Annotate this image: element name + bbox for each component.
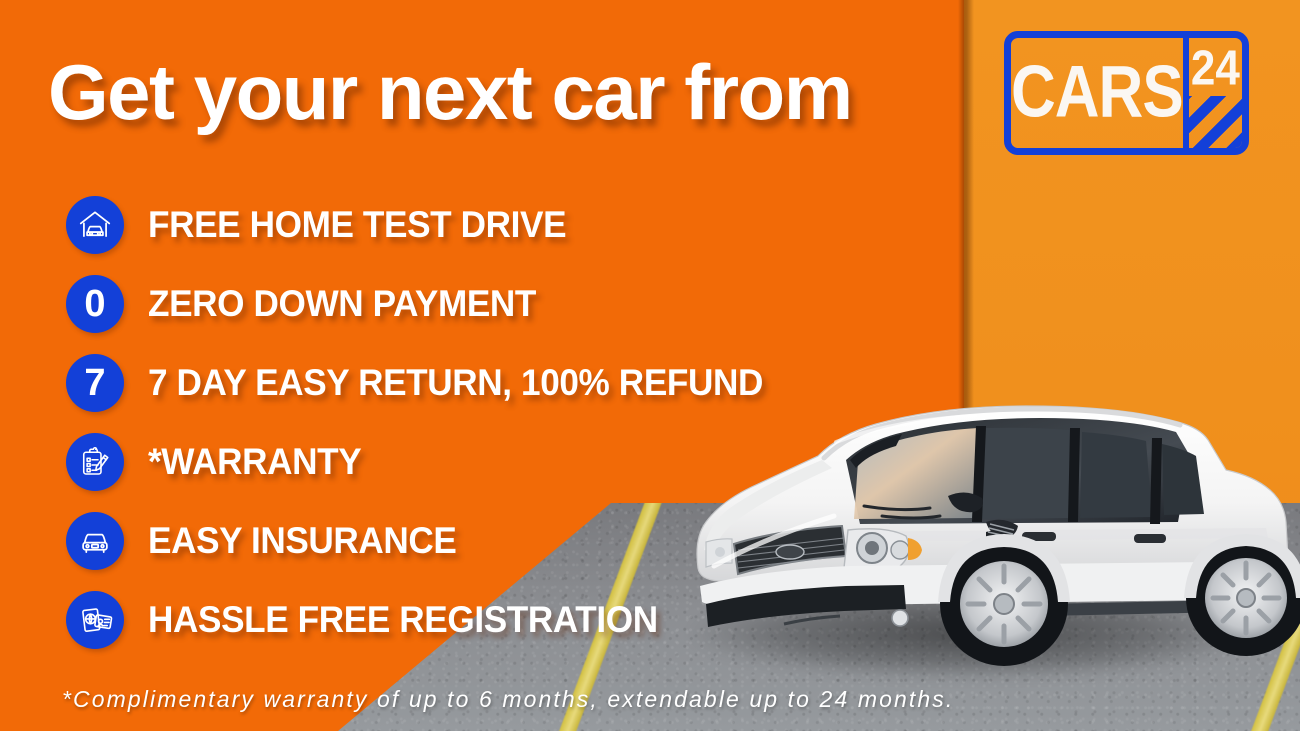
logo-stripes-icon [1189, 96, 1242, 148]
list-item-label: 7 DAY EASY RETURN, 100% REFUND [148, 362, 763, 404]
vehicle-image [686, 336, 1300, 666]
zero-icon: 0 [66, 275, 124, 333]
seven-icon: 7 [66, 354, 124, 412]
list-item: FREE HOME TEST DRIVE [66, 194, 795, 256]
page-title: Get your next car from [48, 52, 948, 134]
list-item-label: HASSLE FREE REGISTRATION [148, 599, 658, 641]
logo-number-box: 24 [1189, 38, 1242, 148]
documents-id-icon [66, 591, 124, 649]
disclaimer-text: *Complimentary warranty of up to 6 month… [62, 686, 954, 713]
cars24-logo[interactable]: CARS 24 [1004, 31, 1249, 155]
logo-wordmark-box: CARS [1011, 38, 1189, 148]
car-front-icon [66, 512, 124, 570]
list-item-label: ZERO DOWN PAYMENT [148, 283, 536, 325]
list-item: 0 ZERO DOWN PAYMENT [66, 273, 795, 335]
logo-number: 24 [1191, 44, 1240, 93]
list-item-label: FREE HOME TEST DRIVE [148, 204, 566, 246]
list-item-label: EASY INSURANCE [148, 520, 456, 562]
badge-number: 7 [84, 364, 105, 402]
list-item-label: *WARRANTY [148, 441, 361, 483]
logo-wordmark: CARS [1011, 56, 1183, 129]
cars24-promo-banner: Get your next car from CARS 24 FRE [0, 0, 1300, 731]
home-garage-car-icon [66, 196, 124, 254]
badge-number: 0 [84, 285, 105, 323]
clipboard-pen-icon [66, 433, 124, 491]
